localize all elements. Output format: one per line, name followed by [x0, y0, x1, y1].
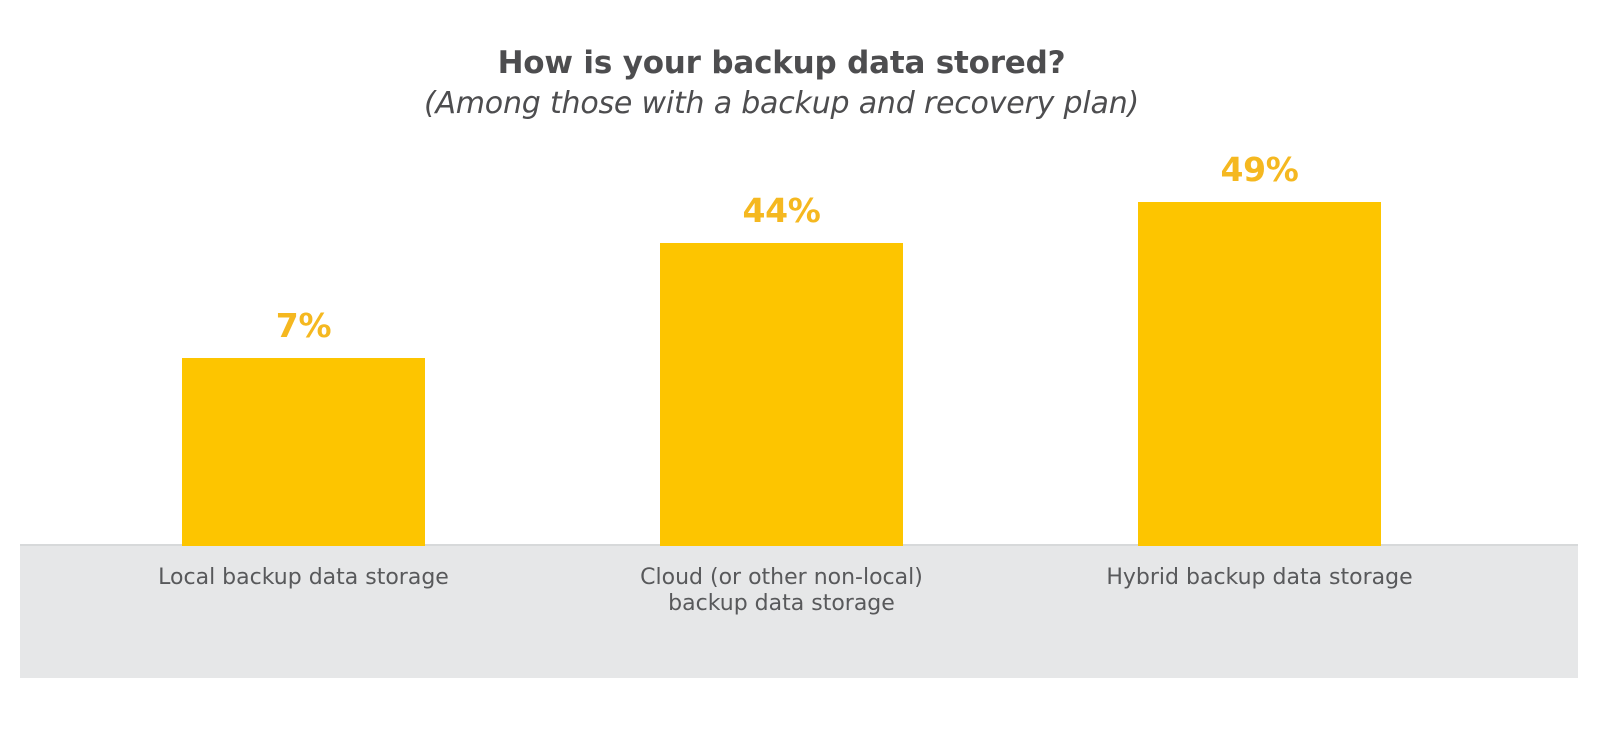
bar-group: 7% Local backup data storage — [182, 0, 425, 730]
category-label-line: backup data storage — [610, 591, 953, 617]
bar-local-backup-data-storage[interactable] — [182, 358, 425, 546]
bar-value-label: 49% — [1138, 150, 1381, 189]
category-label: Hybrid backup data storage — [1088, 565, 1431, 591]
category-label-line: Local backup data storage — [132, 565, 475, 591]
category-label: Cloud (or other non-local) backup data s… — [610, 565, 953, 617]
bar-group: 49% Hybrid backup data storage — [1138, 0, 1381, 730]
bar-hybrid-backup-data-storage[interactable] — [1138, 202, 1381, 546]
bar-chart: How is your backup data stored? (Among t… — [0, 0, 1600, 730]
bar-value-label: 44% — [660, 191, 903, 230]
bar-cloud-backup-data-storage[interactable] — [660, 243, 903, 546]
category-label-line: Hybrid backup data storage — [1088, 565, 1431, 591]
category-label-line: Cloud (or other non-local) — [610, 565, 953, 591]
bar-value-label: 7% — [182, 306, 425, 345]
category-label: Local backup data storage — [132, 565, 475, 591]
plot-area: 7% Local backup data storage 44% Cloud (… — [0, 0, 1600, 730]
bar-group: 44% Cloud (or other non-local) backup da… — [660, 0, 903, 730]
